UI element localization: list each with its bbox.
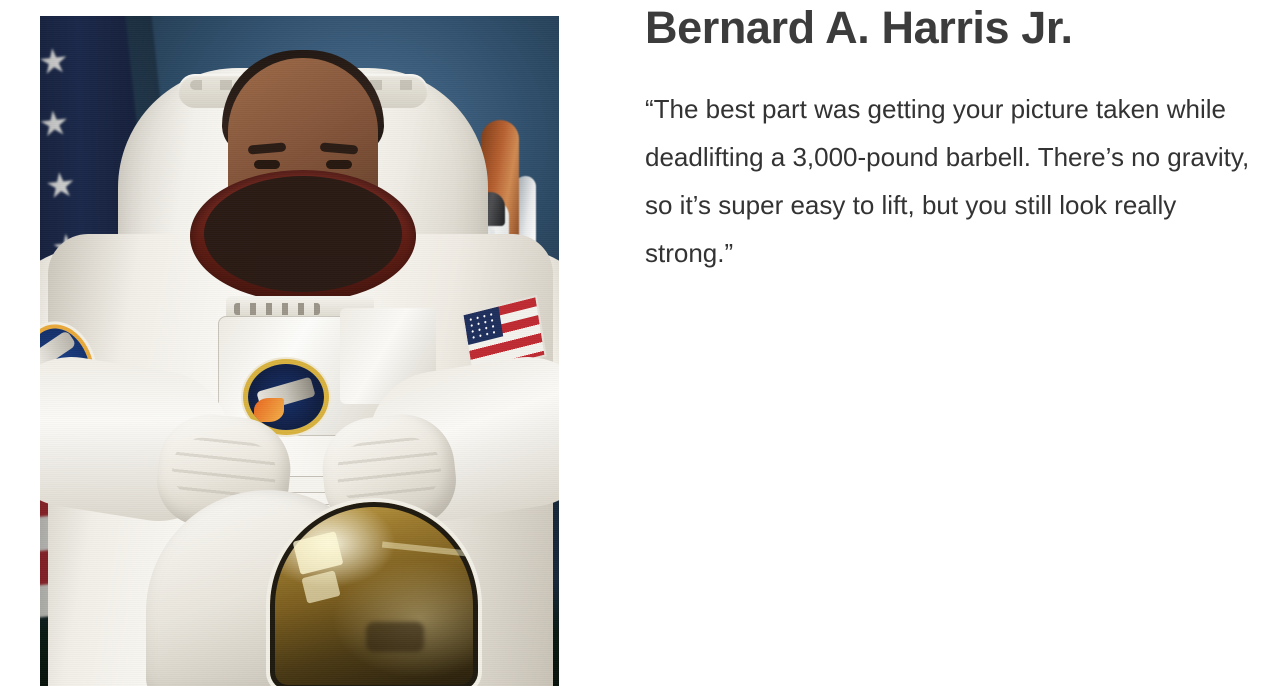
astronaut-profile-page: ★★ ★★ ★★ ★★ ★★ [0,0,1274,686]
visor-reflection [366,622,424,652]
visor-reflection [301,570,340,603]
page-title: Bernard A. Harris Jr. [645,2,1264,54]
eye-right [326,160,352,169]
eye-left [254,160,280,169]
shuttle-mission-patch-icon [248,364,324,430]
bio-quote: “The best part was getting your picture … [645,85,1264,277]
visor-reflection [382,542,468,557]
astronaut-portrait-photo: ★★ ★★ ★★ ★★ ★★ [40,16,559,686]
helmet-neck-ring-inner [204,176,402,292]
emu-spacesuit [40,64,559,686]
visor-reflection [293,531,344,575]
photo-canvas: ★★ ★★ ★★ ★★ ★★ [40,16,559,686]
bio-content: Bernard A. Harris Jr. “The best part was… [599,0,1274,277]
